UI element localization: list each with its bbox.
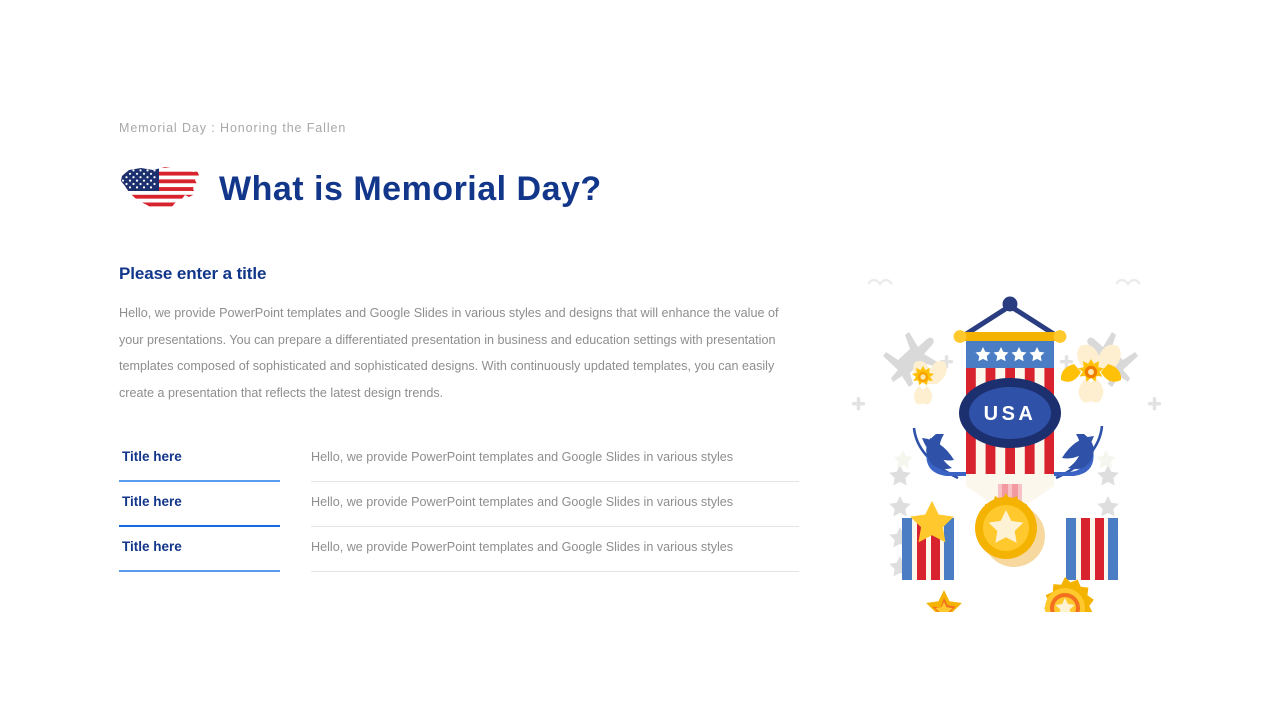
- usa-flag-map-icon: [119, 164, 205, 214]
- content-column: Memorial Day : Honoring the Fallen: [119, 120, 799, 572]
- table-row[interactable]: Title here Hello, we provide PowerPoint …: [119, 482, 799, 527]
- row-title: Title here: [119, 527, 280, 572]
- row-description: Hello, we provide PowerPoint templates a…: [311, 482, 799, 527]
- usa-badge-text: USA: [984, 403, 1037, 425]
- eyebrow-label: Memorial Day : Honoring the Fallen: [119, 120, 799, 136]
- row-title: Title here: [119, 482, 280, 527]
- title-row: What is Memorial Day?: [119, 162, 799, 216]
- memorial-day-illustration: USA: [838, 268, 1182, 612]
- page-title: What is Memorial Day?: [219, 169, 602, 209]
- row-description: Hello, we provide PowerPoint templates a…: [311, 437, 799, 482]
- star-medal: [975, 493, 1045, 567]
- info-row-list: Title here Hello, we provide PowerPoint …: [119, 437, 799, 572]
- bird-silhouette: [868, 280, 892, 284]
- sunburst-badge: [1044, 577, 1094, 612]
- usa-oval-badge: USA: [959, 378, 1061, 448]
- row-description: Hello, we provide PowerPoint templates a…: [311, 527, 799, 572]
- body-paragraph: Hello, we provide PowerPoint templates a…: [119, 300, 781, 406]
- ribbon-bar-right: [1066, 518, 1118, 580]
- row-title: Title here: [119, 437, 280, 482]
- table-row[interactable]: Title here Hello, we provide PowerPoint …: [119, 527, 799, 572]
- banner-knob: [1003, 297, 1018, 312]
- slide-canvas: Memorial Day : Honoring the Fallen: [0, 0, 1280, 720]
- section-title: Please enter a title: [119, 264, 799, 284]
- table-row[interactable]: Title here Hello, we provide PowerPoint …: [119, 437, 799, 482]
- bird-silhouette: [1116, 280, 1140, 284]
- hanging-banner: USA: [954, 297, 1067, 520]
